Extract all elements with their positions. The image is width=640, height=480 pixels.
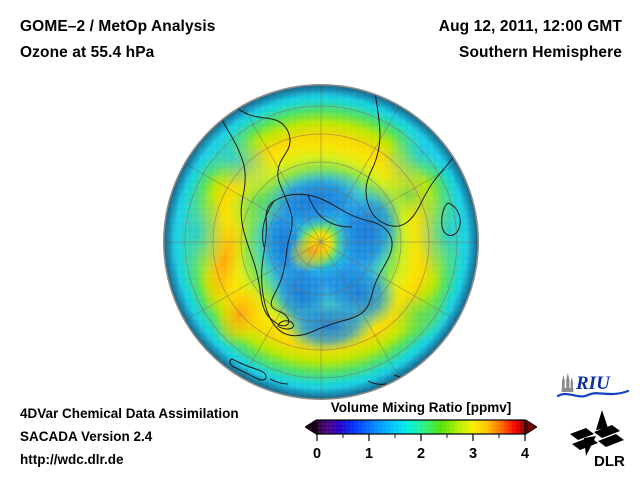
colorbar-tick-2: 2 [417,444,425,464]
riu-logo-text: RIU [575,373,611,394]
colorbar-tick-labels: 0 1 2 3 4 [305,444,537,466]
page-title: GOME–2 / MetOp Analysis [20,14,216,40]
dlr-logo-text: DLR [594,453,625,470]
colorbar-scale [305,418,537,444]
dlr-logo-icon: DLR [564,408,628,470]
riu-logo: RIU [556,370,630,402]
dlr-logo: DLR [564,408,628,470]
colorbar-extend-low [305,420,316,434]
colorbar-major-ticks [317,434,525,441]
orthographic-projection-svg [162,83,480,401]
colorbar: Volume Mixing Ratio [ppmv] [305,400,537,468]
dlr-mark-icon [570,410,624,456]
credits-block: 4DVar Chemical Data Assimilation SACADA … [20,402,239,471]
colorbar-extend-high [526,420,537,434]
header-left: GOME–2 / MetOp Analysis Ozone at 55.4 hP… [20,14,216,66]
credits-version: SACADA Version 2.4 [20,425,239,448]
ozone-analysis-figure: GOME–2 / MetOp Analysis Ozone at 55.4 hP… [0,0,640,480]
cathedral-icon [562,373,574,392]
colorbar-tick-0: 0 [313,444,321,464]
header-right: Aug 12, 2011, 12:00 GMT Southern Hemisph… [439,14,622,66]
credits-url[interactable]: http://wdc.dlr.de [20,448,239,471]
globe-map [162,83,480,401]
colorbar-tick-4: 4 [521,444,529,464]
credits-method: 4DVar Chemical Data Assimilation [20,402,239,425]
riu-logo-icon: RIU [556,370,630,402]
page-subtitle: Ozone at 55.4 hPa [20,40,216,66]
colorbar-tick-3: 3 [469,444,477,464]
region-label: Southern Hemisphere [439,40,622,66]
timestamp: Aug 12, 2011, 12:00 GMT [439,14,622,40]
colorbar-title: Volume Mixing Ratio [ppmv] [305,400,537,415]
colorbar-tick-1: 1 [365,444,373,464]
